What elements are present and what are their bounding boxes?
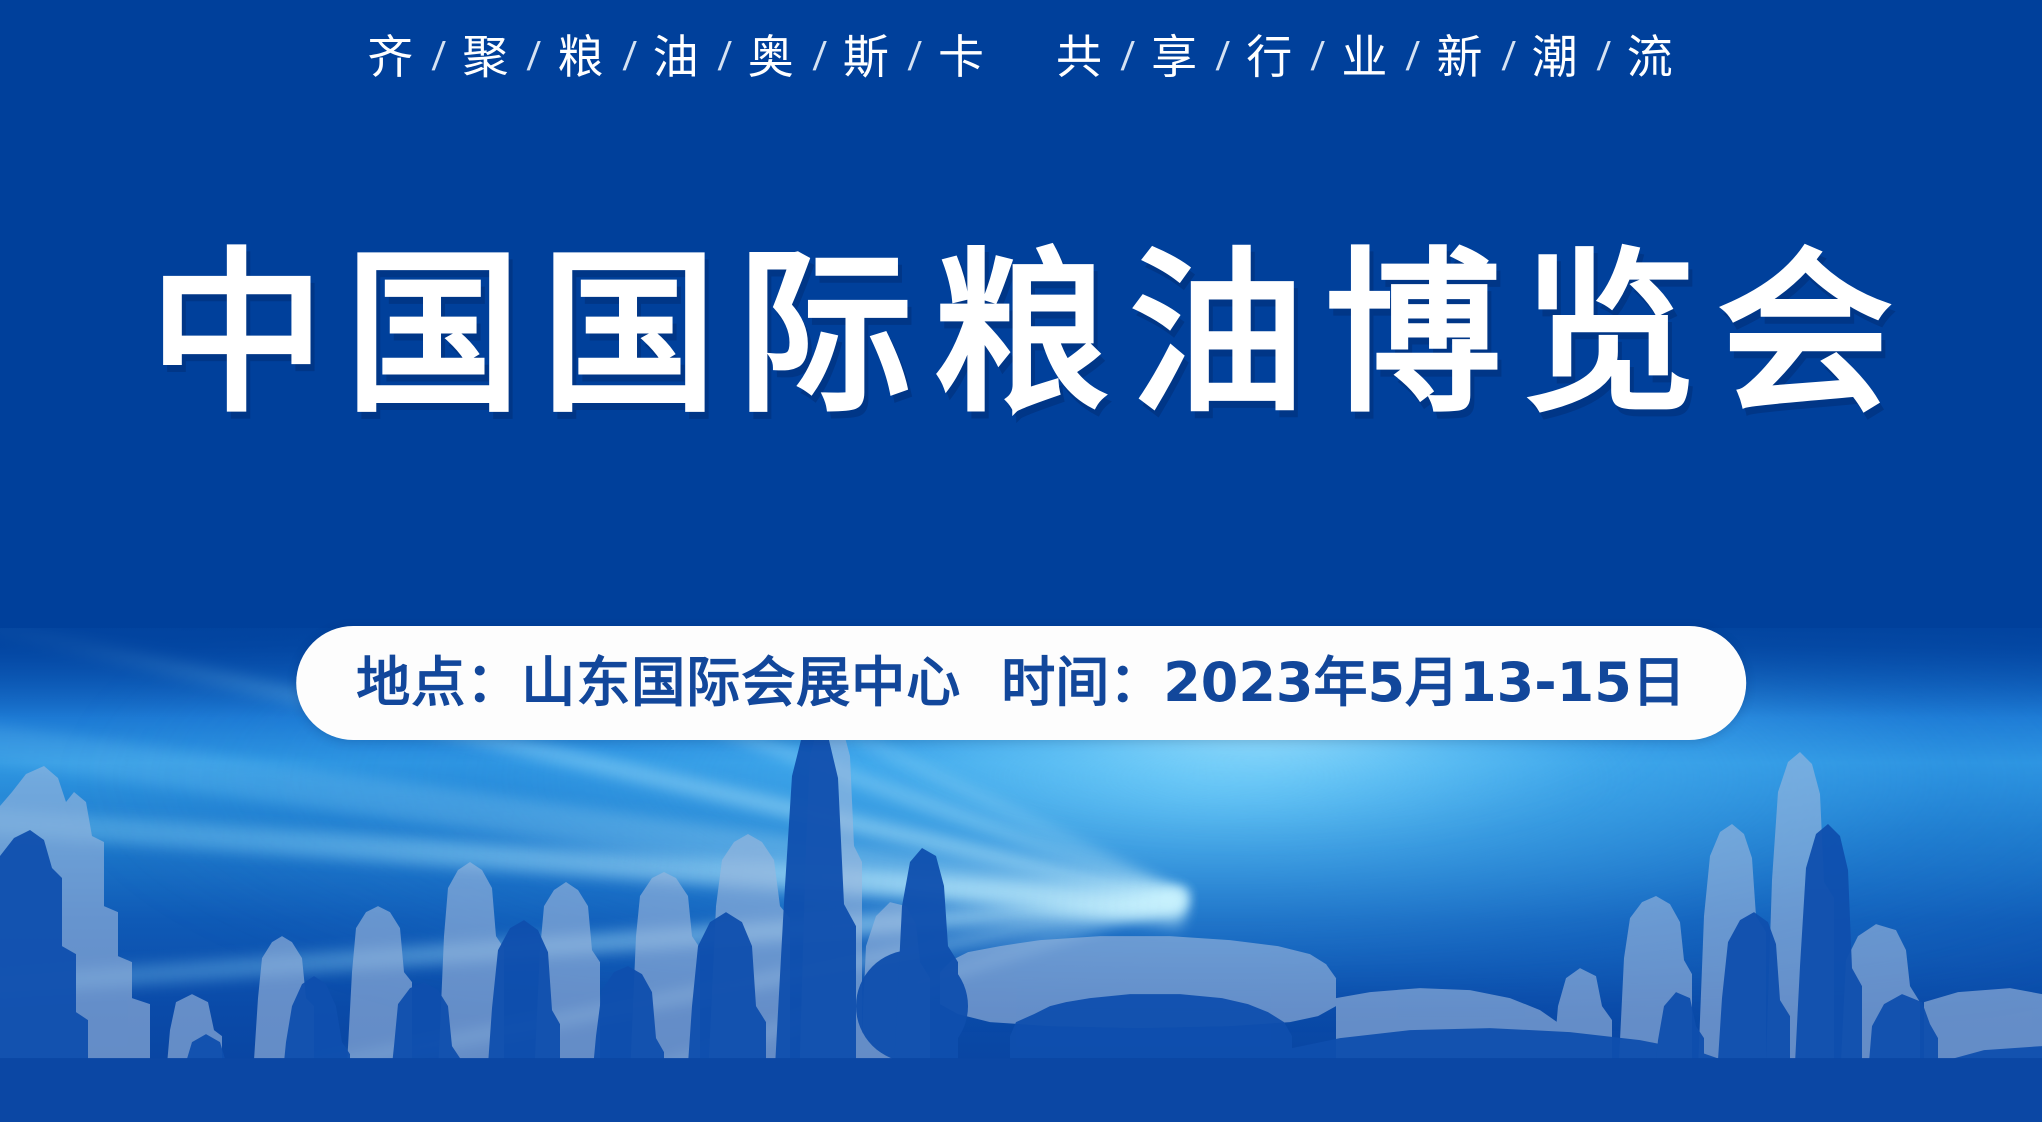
- event-banner: 齐 / 聚 / 粮 / 油 / 奥 / 斯 / 卡 共 / 享 / 行 / 业 …: [0, 0, 2042, 1122]
- skyline-ground-band: [0, 1058, 2042, 1122]
- venue-text: 地点：山东国际会展中心: [356, 656, 961, 710]
- event-title: 中国国际粮油博览会: [0, 246, 2042, 422]
- event-info-pill: 地点：山东国际会展中心 时间：2023年5月13-15日: [296, 626, 1746, 740]
- date-text: 时间：2023年5月13-15日: [1001, 656, 1686, 710]
